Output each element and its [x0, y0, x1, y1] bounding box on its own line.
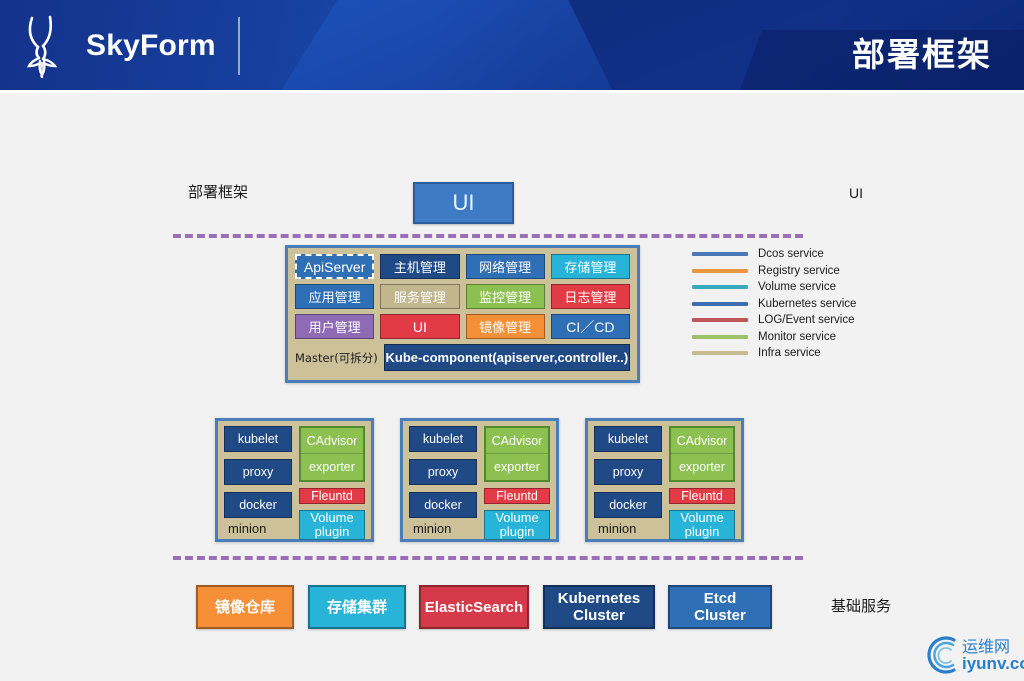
legend-color-swatch [692, 302, 748, 306]
minion-component-box[interactable]: Fleuntd [484, 488, 550, 504]
minion-right-stack: CAdvisorexporterFleuntdVolumeplugin [484, 426, 550, 535]
minion-component-box[interactable]: Volumeplugin [299, 510, 365, 540]
master-component-grid: ApiServer主机管理网络管理存储管理应用管理服务管理监控管理日志管理用户管… [295, 254, 630, 339]
minion-component-box[interactable]: docker [594, 492, 662, 518]
minion-name-label: minion [228, 521, 266, 536]
minion-right-stack: CAdvisorexporterFleuntdVolumeplugin [299, 426, 365, 535]
separator-bottom [173, 556, 803, 560]
legend-row: Infra service [692, 345, 872, 362]
brand-logo-text: SkyForm [86, 29, 216, 63]
master-cell[interactable]: 日志管理 [551, 284, 630, 309]
infra-layer-label: 基础服务 [831, 595, 891, 616]
infrastructure-service-box[interactable]: Etcd Cluster [668, 585, 772, 629]
master-cell[interactable]: 镜像管理 [466, 314, 545, 339]
legend-row: Dcos service [692, 246, 872, 263]
legend-label: Dcos service [758, 248, 824, 260]
volume-plugin-line1: Volume [680, 511, 723, 525]
minion-component-box[interactable]: kubelet [224, 426, 292, 452]
legend-color-swatch [692, 252, 748, 256]
legend-label: LOG/Event service [758, 314, 855, 326]
minion-node: kubeletproxydockerCAdvisorexporterFleunt… [400, 418, 559, 542]
legend-color-swatch [692, 285, 748, 289]
master-cell[interactable]: 网络管理 [466, 254, 545, 279]
legend-label: Registry service [758, 265, 840, 277]
master-panel: ApiServer主机管理网络管理存储管理应用管理服务管理监控管理日志管理用户管… [285, 245, 640, 383]
minion-component-box[interactable]: docker [409, 492, 477, 518]
legend-label: Kubernetes service [758, 298, 856, 310]
minion-name-label: minion [598, 521, 636, 536]
minion-component-box[interactable]: exporter [486, 454, 548, 480]
master-cell[interactable]: 服务管理 [380, 284, 459, 309]
minion-component-box[interactable]: CAdvisor [486, 428, 548, 454]
watermark-en-text: iyunv.com [962, 655, 1024, 673]
legend-label: Volume service [758, 281, 836, 293]
infrastructure-service-box[interactable]: 镜像仓库 [196, 585, 294, 629]
minion-component-box[interactable]: Fleuntd [669, 488, 735, 504]
master-cell[interactable]: 监控管理 [466, 284, 545, 309]
minion-left-stack: kubeletproxydocker [594, 426, 662, 535]
minion-component-box[interactable]: Fleuntd [299, 488, 365, 504]
legend-row: LOG/Event service [692, 312, 872, 329]
minion-component-box[interactable]: exporter [301, 454, 363, 480]
antelope-head-logo-icon [26, 14, 82, 78]
volume-plugin-line2: plugin [685, 525, 720, 539]
kube-component-bar[interactable]: Kube-component(apiserver,controller..) [384, 344, 630, 371]
minion-component-box[interactable]: exporter [671, 454, 733, 480]
minion-monitor-group: CAdvisorexporter [299, 426, 365, 482]
legend-color-swatch [692, 318, 748, 322]
minion-component-box[interactable]: kubelet [594, 426, 662, 452]
watermark-cn-text: 运维网 [962, 638, 1024, 655]
legend-label: Infra service [758, 347, 821, 359]
minion-node: kubeletproxydockerCAdvisorexporterFleunt… [585, 418, 744, 542]
master-label: Master(可拆分) [295, 350, 378, 366]
minion-component-box[interactable]: proxy [409, 459, 477, 485]
ui-top-box[interactable]: UI [413, 182, 514, 224]
separator-top [173, 234, 803, 238]
minion-component-box[interactable]: Volumeplugin [669, 510, 735, 540]
legend-row: Volume service [692, 279, 872, 296]
site-watermark: 运维网 iyunv.com [920, 632, 1024, 678]
volume-plugin-line1: Volume [495, 511, 538, 525]
minion-monitor-group: CAdvisorexporter [484, 426, 550, 482]
volume-plugin-line1: Volume [310, 511, 353, 525]
legend-color-swatch [692, 269, 748, 273]
infrastructure-service-box[interactable]: Kubernetes Cluster [543, 585, 655, 629]
minion-component-box[interactable]: Volumeplugin [484, 510, 550, 540]
minion-right-stack: CAdvisorexporterFleuntdVolumeplugin [669, 426, 735, 535]
legend-row: Kubernetes service [692, 296, 872, 313]
header-divider [238, 17, 240, 75]
minion-name-label: minion [413, 521, 451, 536]
volume-plugin-line2: plugin [500, 525, 535, 539]
minion-node: kubeletproxydockerCAdvisorexporterFleunt… [215, 418, 374, 542]
master-cell[interactable]: 存储管理 [551, 254, 630, 279]
master-bottom-row: Master(可拆分) Kube-component(apiserver,con… [295, 344, 630, 371]
legend-row: Registry service [692, 263, 872, 280]
minion-left-stack: kubeletproxydocker [224, 426, 292, 535]
minion-component-box[interactable]: docker [224, 492, 292, 518]
master-cell[interactable]: UI [380, 314, 459, 339]
legend-color-swatch [692, 351, 748, 355]
master-cell[interactable]: 主机管理 [380, 254, 459, 279]
minion-component-box[interactable]: proxy [594, 459, 662, 485]
master-cell[interactable]: 应用管理 [295, 284, 374, 309]
legend-row: Monitor service [692, 329, 872, 346]
master-cell[interactable]: CI／CD [551, 314, 630, 339]
minion-component-box[interactable]: CAdvisor [301, 428, 363, 454]
master-cell[interactable]: 用户管理 [295, 314, 374, 339]
minion-component-box[interactable]: proxy [224, 459, 292, 485]
page-header: SkyForm 部署框架 [0, 0, 1024, 90]
legend-label: Monitor service [758, 331, 836, 343]
minion-left-stack: kubeletproxydocker [409, 426, 477, 535]
minion-component-box[interactable]: CAdvisor [671, 428, 733, 454]
volume-plugin-line2: plugin [315, 525, 350, 539]
ui-layer-label: UI [849, 185, 863, 201]
infrastructure-service-box[interactable]: ElasticSearch [419, 585, 529, 629]
infrastructure-service-box[interactable]: 存储集群 [308, 585, 406, 629]
page-title: 部署框架 [852, 28, 992, 76]
master-cell[interactable]: ApiServer [295, 254, 374, 279]
minion-component-box[interactable]: kubelet [409, 426, 477, 452]
minion-monitor-group: CAdvisorexporter [669, 426, 735, 482]
service-legend: Dcos serviceRegistry serviceVolume servi… [692, 246, 872, 362]
legend-color-swatch [692, 335, 748, 339]
diagram-title-label: 部署框架 [188, 181, 248, 202]
brand-logo-block: SkyForm [26, 12, 240, 80]
swirl-ring-icon [920, 632, 966, 678]
